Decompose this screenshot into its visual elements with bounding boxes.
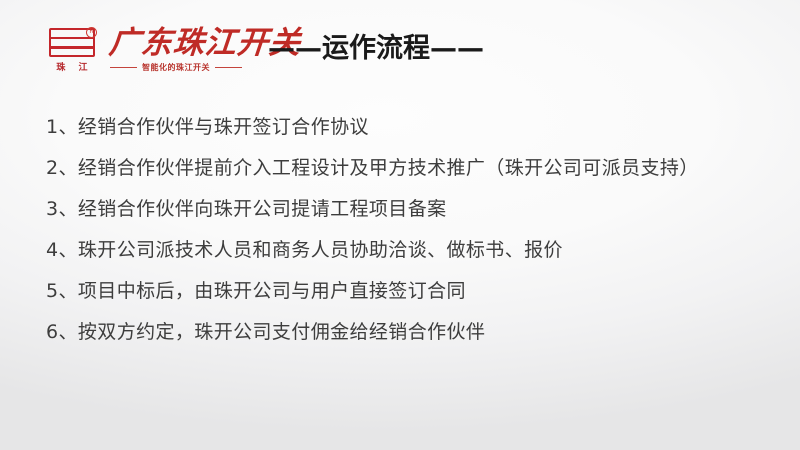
logo-tagline: 智能化的珠江开关: [110, 62, 242, 73]
tagline-rule-right: [215, 67, 242, 68]
registered-trademark-icon: R: [86, 27, 97, 38]
logo-mark: R 珠 江: [46, 24, 102, 73]
tagline-rule-left: [110, 67, 137, 68]
list-item: 4、珠开公司派技术人员和商务人员协助洽谈、做标书、报价: [46, 230, 786, 271]
list-item: 3、经销合作伙伴向珠开公司提请工程项目备案: [46, 189, 786, 230]
process-step-list: 1、经销合作伙伴与珠开签订合作协议 2、经销合作伙伴提前介入工程设计及甲方技术推…: [46, 107, 786, 353]
slide-header: R 珠 江 广东珠江开关 智能化的珠江开关 ——运作流程——: [0, 0, 800, 90]
tagline-text: 智能化的珠江开关: [137, 62, 215, 73]
logo-mark-label: 珠 江: [49, 60, 95, 73]
page-title: ——运作流程——: [268, 32, 484, 66]
company-logo: R 珠 江 广东珠江开关 智能化的珠江开关: [46, 24, 301, 73]
list-item: 5、项目中标后，由珠开公司与用户直接签订合同: [46, 271, 786, 312]
list-item: 2、经销合作伙伴提前介入工程设计及甲方技术推广（珠开公司可派员支持）: [46, 148, 786, 189]
slide-canvas: R 珠 江 广东珠江开关 智能化的珠江开关 ——运作流程—— 1、经销合作伙伴与…: [0, 0, 800, 450]
zhujiang-emblem-icon: R: [49, 28, 95, 57]
list-item: 6、按双方约定，珠开公司支付佣金给经销合作伙伴: [46, 312, 786, 353]
list-item: 1、经销合作伙伴与珠开签订合作协议: [46, 107, 786, 148]
